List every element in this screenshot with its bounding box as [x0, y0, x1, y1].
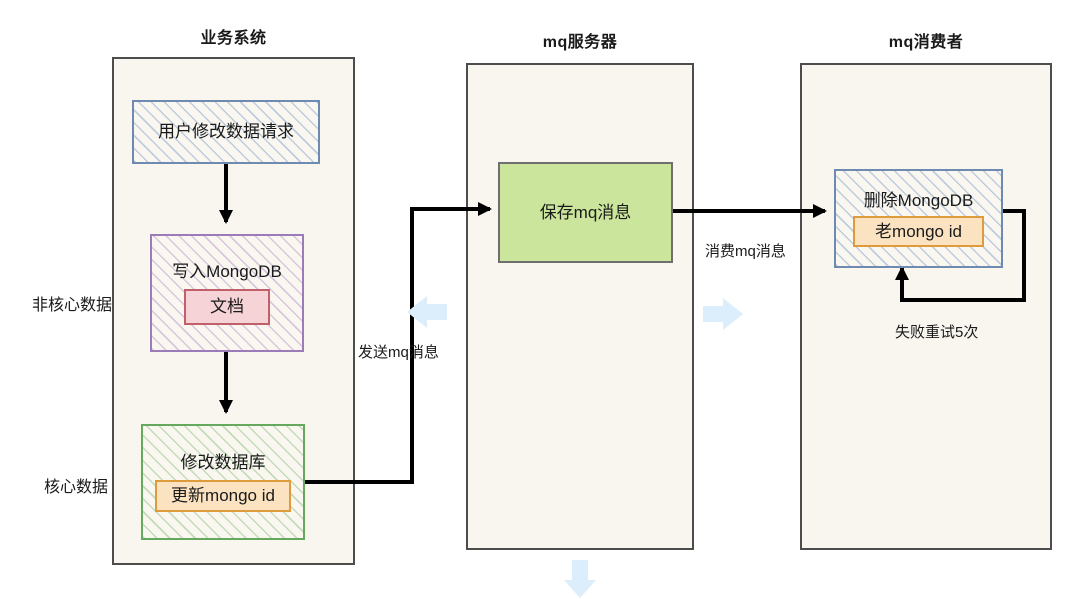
- hint-arrow-left-icon: [407, 296, 447, 328]
- lane-mq-consumer: [800, 63, 1052, 550]
- node-write-mongodb[interactable]: 写入MongoDB 文档: [150, 234, 304, 352]
- node-save-mq-message[interactable]: 保存mq消息: [498, 162, 673, 263]
- node-write-mongodb-chip[interactable]: 文档: [184, 289, 270, 325]
- lane-mq-server: [466, 63, 694, 550]
- diagram-canvas: 业务系统 mq服务器 mq消费者: [0, 0, 1080, 599]
- node-user-request[interactable]: 用户修改数据请求: [132, 100, 320, 164]
- side-label-non-core-data: 非核心数据: [32, 291, 112, 315]
- edge-label-send-mq-message: 发送mq消息: [358, 341, 439, 362]
- hint-arrow-right-icon: [703, 298, 743, 330]
- node-save-mq-message-label: 保存mq消息: [540, 202, 632, 223]
- node-write-mongodb-label: 写入MongoDB: [172, 261, 282, 282]
- lane-title-business-system: 业务系统: [112, 24, 355, 48]
- node-update-database-label: 修改数据库: [181, 452, 266, 473]
- node-update-database[interactable]: 修改数据库 更新mongo id: [141, 424, 305, 540]
- lane-title-mq-consumer: mq消费者: [800, 28, 1052, 52]
- node-user-request-label: 用户修改数据请求: [158, 121, 294, 142]
- hint-arrow-down-icon: [564, 560, 596, 598]
- lane-title-mq-server: mq服务器: [466, 28, 694, 52]
- node-delete-mongodb-chip[interactable]: 老mongo id: [853, 216, 984, 247]
- node-delete-mongodb-label: 删除MongoDB: [864, 190, 974, 211]
- edge-label-consume-mq-message: 消费mq消息: [705, 240, 786, 261]
- node-delete-mongodb[interactable]: 删除MongoDB 老mongo id: [834, 169, 1003, 268]
- node-update-database-chip[interactable]: 更新mongo id: [155, 480, 291, 512]
- side-label-core-data: 核心数据: [44, 473, 108, 497]
- edge-label-retry-on-failure: 失败重试5次: [895, 321, 978, 342]
